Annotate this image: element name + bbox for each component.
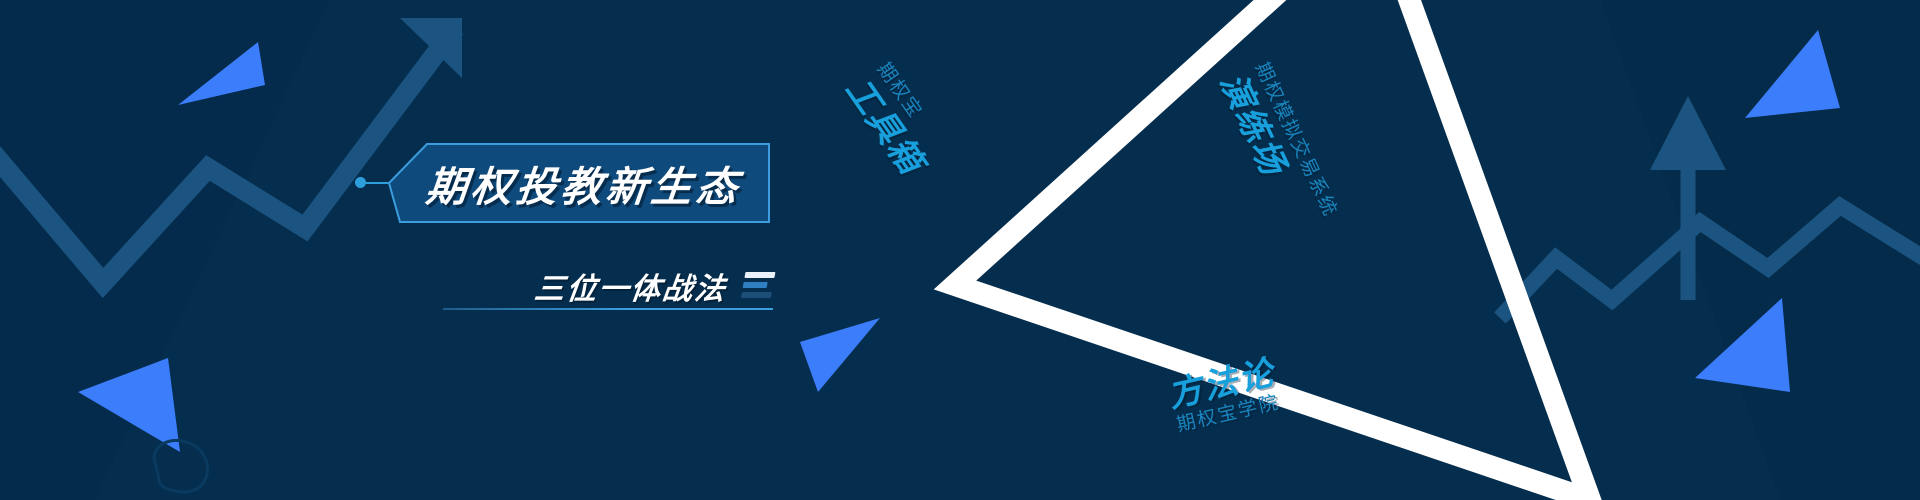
banner-root: 期权投教新生态 三位一体战法 期权宝 工具箱 期权模拟交易系统 演练场 方法论 …	[0, 0, 1920, 500]
background-decor	[0, 0, 1920, 500]
